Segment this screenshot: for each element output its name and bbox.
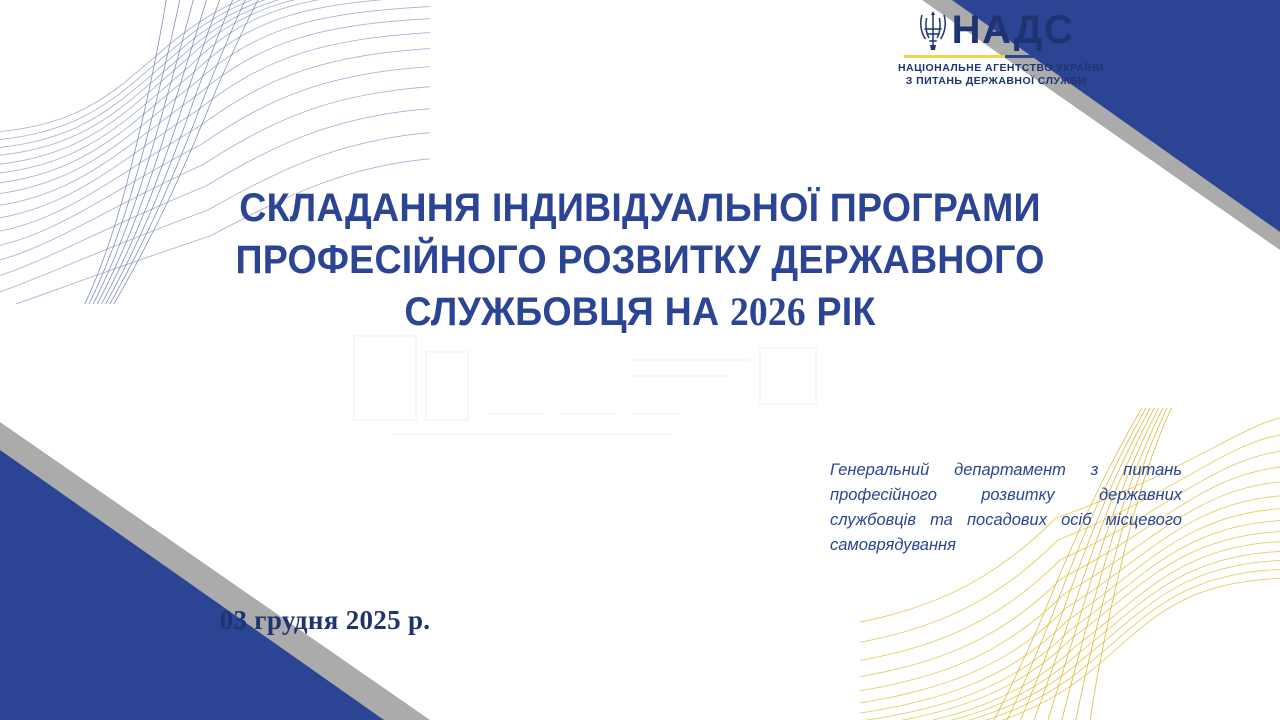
corner-triangle-bottom-left xyxy=(0,410,430,720)
title-line-3: СЛУЖБОВЦЯ НА 2026 РІК xyxy=(208,286,1073,338)
wave-fan-bottom-right-icon xyxy=(860,408,1280,720)
logo-wordmark: НАДС xyxy=(952,10,1075,50)
slide-date: 03 грудня 2025 р. xyxy=(220,605,431,636)
title-line-1: СКЛАДАННЯ ІНДИВІДУАЛЬНОЇ ПРОГРАМИ xyxy=(208,182,1073,234)
logo-subtitle-line-2: З ПИТАНЬ ДЕРЖАВНОЇ СЛУЖБИ xyxy=(898,75,1094,88)
ukraine-trident-icon xyxy=(918,9,948,51)
department-credit: Генеральний департамент з питань професі… xyxy=(830,458,1182,558)
title-year: 2026 xyxy=(730,289,806,334)
logo-lockup: НАДС xyxy=(898,8,1094,52)
title-line-2: ПРОФЕСІЙНОГО РОЗВИТКУ ДЕРЖАВНОГО xyxy=(208,234,1073,286)
logo-divider-blue xyxy=(1005,55,1088,58)
date-row: 03 грудня 2025 р. xyxy=(0,605,1280,636)
title-slide: НАДС НАЦІОНАЛЬНЕ АГЕНТСТВО УКРАЇНИ З ПИТ… xyxy=(0,0,1280,720)
title-line-3-suffix: РІК xyxy=(806,290,876,334)
logo-divider-yellow xyxy=(904,55,1005,58)
nads-logo: НАДС НАЦІОНАЛЬНЕ АГЕНТСТВО УКРАЇНИ З ПИТ… xyxy=(898,8,1094,88)
slide-title: СКЛАДАННЯ ІНДИВІДУАЛЬНОЇ ПРОГРАМИ ПРОФЕС… xyxy=(180,182,1100,338)
background-watermark-icon xyxy=(330,330,890,450)
title-line-3-prefix: СЛУЖБОВЦЯ НА xyxy=(404,290,730,334)
logo-subtitle-line-1: НАЦІОНАЛЬНЕ АГЕНТСТВО УКРАЇНИ xyxy=(898,62,1094,75)
logo-divider-rule xyxy=(904,55,1088,58)
